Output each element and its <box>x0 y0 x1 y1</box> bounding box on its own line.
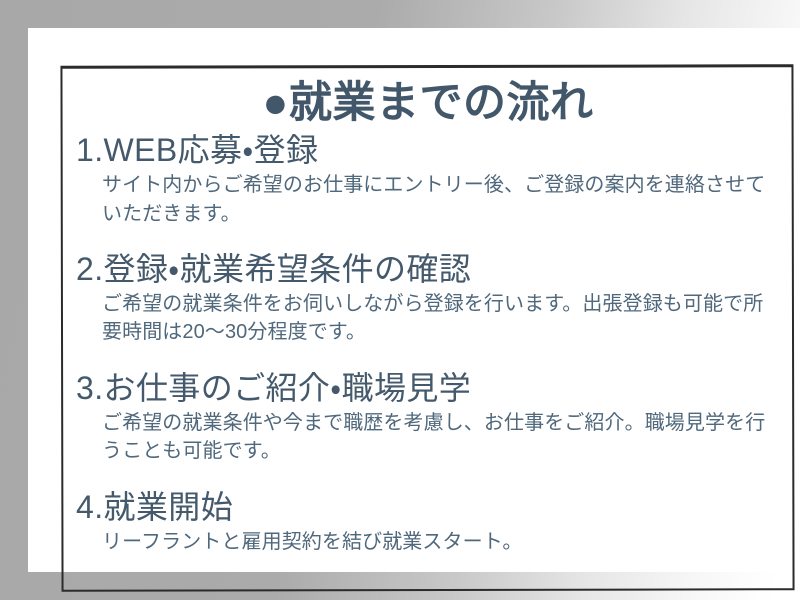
step-4-body: リーフラントと雇用契約を結び就業スタート。 <box>102 528 774 556</box>
step-item-2: 2.登録・就業希望条件の確認 ご希望の就業条件をお伺いしながら登録を行います。出… <box>76 250 780 347</box>
step-4-heading: 4.就業開始 <box>76 488 780 527</box>
step-3-heading: 3.お仕事のご紹介・職場見学 <box>76 369 780 408</box>
poster-card: ●就業までの流れ 1.WEB応募・登録 サイト内からご希望のお仕事にエントリー後… <box>28 28 800 572</box>
poster-content: ●就業までの流れ 1.WEB応募・登録 サイト内からご希望のお仕事にエントリー後… <box>68 68 790 588</box>
step-item-1: 1.WEB応募・登録 サイト内からご希望のお仕事にエントリー後、ご登録の案内を連… <box>76 131 780 228</box>
step-1-body: サイト内からご希望のお仕事にエントリー後、ご登録の案内を連絡させていただきます。 <box>102 171 774 228</box>
step-item-3: 3.お仕事のご紹介・職場見学 ご希望の就業条件や今まで職歴を考慮し、お仕事をご紹… <box>76 369 780 466</box>
page-title: ●就業までの流れ <box>76 79 780 127</box>
step-2-body: ご希望の就業条件をお伺いしながら登録を行います。出張登録も可能で所要時間は20〜… <box>102 290 774 347</box>
poster-root: ●就業までの流れ 1.WEB応募・登録 サイト内からご希望のお仕事にエントリー後… <box>0 0 800 600</box>
step-2-heading: 2.登録・就業希望条件の確認 <box>76 250 780 289</box>
step-1-heading: 1.WEB応募・登録 <box>76 131 780 170</box>
step-item-4: 4.就業開始 リーフラントと雇用契約を結び就業スタート。 <box>76 488 780 556</box>
step-3-body: ご希望の就業条件や今まで職歴を考慮し、お仕事をご紹介。職場見学を行うことも可能で… <box>102 409 774 466</box>
